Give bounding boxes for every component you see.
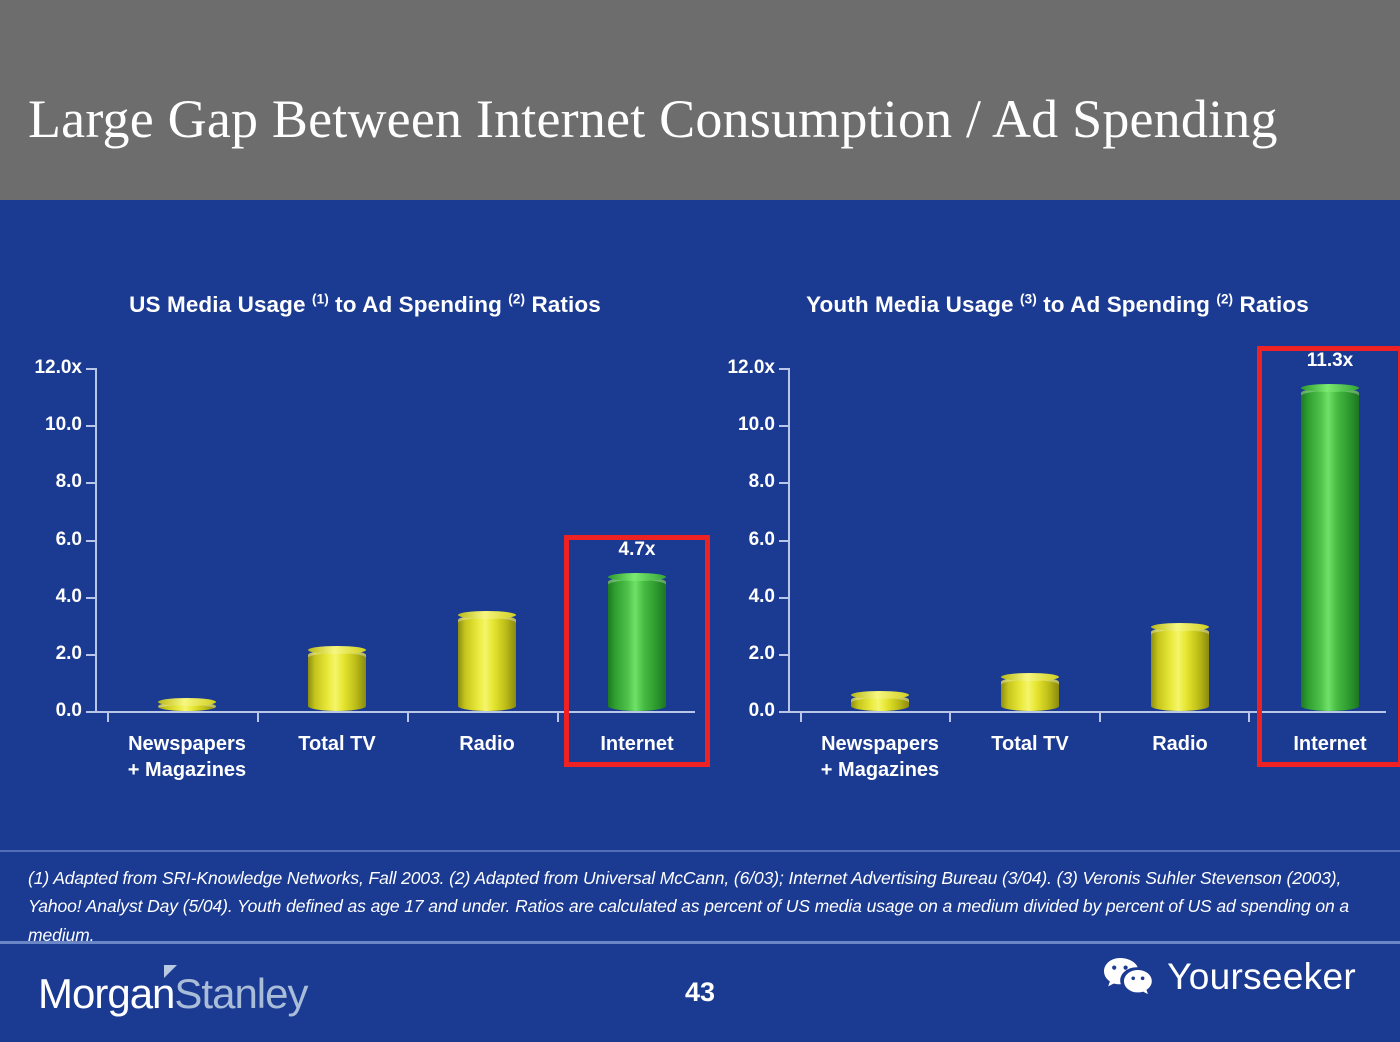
bar-top-ellipse	[158, 698, 216, 706]
bar-slot: 4.7x	[562, 368, 712, 711]
category-label-total: Total TV	[262, 731, 412, 757]
bar	[308, 650, 366, 711]
category-label-radio: Radio	[412, 731, 562, 757]
slide-footer: MorganStanley 43 Yourseeker	[0, 945, 1400, 1042]
bar	[1001, 677, 1059, 711]
footnote-text: (1) Adapted from SRI-Knowledge Networks,…	[28, 864, 1376, 949]
category-label-internet: Internet	[562, 731, 712, 757]
chart-title-segment-1: Youth Media Usage	[806, 292, 1020, 317]
bar	[851, 695, 909, 711]
y-axis-label: 4.0	[749, 586, 775, 608]
y-axis-label: 10.0	[738, 414, 775, 436]
y-axis-tick	[86, 654, 95, 656]
bar-slot	[112, 368, 262, 711]
x-axis-tick	[257, 713, 259, 722]
title-band: Large Gap Between Internet Consumption /…	[0, 0, 1400, 200]
y-axis-tick	[86, 540, 95, 542]
y-axis-label: 2.0	[749, 643, 775, 665]
bar	[608, 577, 666, 711]
y-axis-label: 12.0x	[34, 357, 82, 379]
bar-top-ellipse	[1151, 623, 1209, 631]
footnote-divider-bottom	[0, 941, 1400, 944]
bar	[1151, 627, 1209, 711]
bar-group-left: 4.7x	[95, 368, 695, 711]
y-axis-tick	[86, 597, 95, 599]
bar-value-label: 4.7x	[619, 539, 656, 561]
y-axis-tick	[86, 711, 95, 713]
plot-area-us-media-usage: 4.7x Newspapers+ MagazinesTotal TVRadioI…	[95, 368, 695, 713]
y-axis-tick	[86, 368, 95, 370]
y-axis-tick	[779, 597, 788, 599]
chart-title-footnote-ref-2: (2)	[1216, 292, 1233, 307]
bar-top-ellipse	[308, 646, 366, 654]
bar-top-ellipse	[1301, 384, 1359, 392]
category-label-total: Total TV	[955, 731, 1105, 757]
chart-title-footnote-ref-3: (3)	[1020, 292, 1037, 307]
bar-slot	[262, 368, 412, 711]
y-axis-tick	[86, 425, 95, 427]
y-axis-label: 0.0	[56, 700, 82, 722]
y-axis-label: 0.0	[749, 700, 775, 722]
bar-slot	[412, 368, 562, 711]
chart-title-footnote-ref-1: (1)	[312, 292, 329, 307]
x-axis-tick	[407, 713, 409, 722]
x-axis-tick	[557, 713, 559, 722]
bar-top-ellipse	[608, 573, 666, 581]
y-axis-label: 8.0	[56, 471, 82, 493]
chart-title-segment-1: US Media Usage	[129, 292, 312, 317]
x-axis-tick	[800, 713, 802, 722]
y-axis-label: 4.0	[56, 586, 82, 608]
bar-slot: 11.3x	[1255, 368, 1400, 711]
y-axis-tick	[779, 711, 788, 713]
y-axis-label: 10.0	[45, 414, 82, 436]
y-axis-label: 8.0	[749, 471, 775, 493]
category-label-internet: Internet	[1255, 731, 1400, 757]
yourseeker-watermark: Yourseeker	[1102, 955, 1356, 999]
wechat-icon	[1102, 955, 1154, 999]
y-axis-tick	[779, 540, 788, 542]
slide-body: US Media Usage (1) to Ad Spending (2) Ra…	[0, 200, 1400, 1042]
y-axis-label: 6.0	[56, 529, 82, 551]
bar-slot	[955, 368, 1105, 711]
chart-title-youth-media-usage: Youth Media Usage (3) to Ad Spending (2)…	[715, 288, 1400, 323]
bar	[158, 702, 216, 711]
bar-group-right: 11.3x	[788, 368, 1386, 711]
y-axis-label: 2.0	[56, 643, 82, 665]
chart-title-footnote-ref-2: (2)	[508, 292, 525, 307]
y-axis-tick	[779, 368, 788, 370]
footnote-divider-top	[0, 850, 1400, 852]
category-labels-right: Newspapers+ MagazinesTotal TVRadioIntern…	[788, 713, 1386, 803]
category-label-radio: Radio	[1105, 731, 1255, 757]
plot-area-youth-media-usage: 11.3x Newspapers+ MagazinesTotal TVRadio…	[788, 368, 1386, 713]
y-axis-label: 12.0x	[727, 357, 775, 379]
bar-top-ellipse	[1001, 673, 1059, 681]
x-axis-tick	[1248, 713, 1250, 722]
chart-title-segment-2: to Ad Spending	[329, 292, 509, 317]
category-label-newspapers: Newspapers+ Magazines	[112, 731, 262, 784]
bar-value-label: 11.3x	[1307, 350, 1354, 372]
bar-slot	[1105, 368, 1255, 711]
x-axis-tick	[107, 713, 109, 722]
yourseeker-label: Yourseeker	[1167, 956, 1356, 998]
chart-title-segment-2: to Ad Spending	[1037, 292, 1217, 317]
bar-slot	[805, 368, 955, 711]
chart-youth-media-usage: Youth Media Usage (3) to Ad Spending (2)…	[715, 200, 1400, 820]
chart-title-segment-3: Ratios	[1233, 292, 1309, 317]
y-axis-tick	[86, 482, 95, 484]
category-labels-left: Newspapers+ MagazinesTotal TVRadioIntern…	[95, 713, 695, 803]
bar	[1301, 388, 1359, 711]
bar-top-ellipse	[458, 611, 516, 619]
x-axis-tick	[949, 713, 951, 722]
y-axis-tick	[779, 425, 788, 427]
y-axis-label: 6.0	[749, 529, 775, 551]
chart-title-segment-3: Ratios	[525, 292, 601, 317]
chart-us-media-usage: US Media Usage (1) to Ad Spending (2) Ra…	[10, 200, 720, 820]
bar-top-ellipse	[851, 691, 909, 699]
category-label-newspapers: Newspapers+ Magazines	[805, 731, 955, 784]
chart-title-us-media-usage: US Media Usage (1) to Ad Spending (2) Ra…	[10, 288, 720, 323]
y-axis-tick	[779, 482, 788, 484]
y-axis-tick	[779, 654, 788, 656]
bar	[458, 615, 516, 711]
page-title: Large Gap Between Internet Consumption /…	[28, 88, 1378, 150]
x-axis-tick	[1099, 713, 1101, 722]
